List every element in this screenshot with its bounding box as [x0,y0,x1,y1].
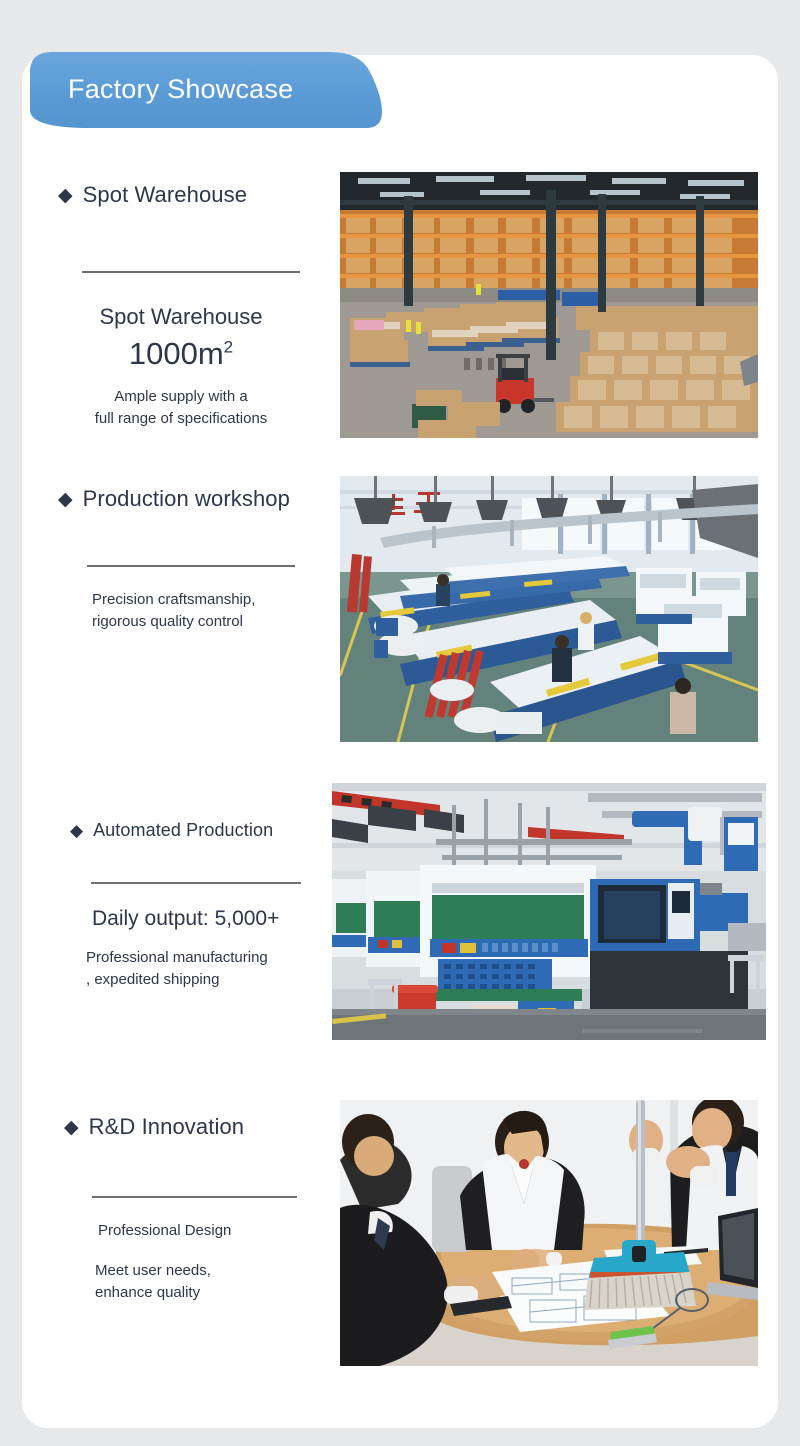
section-heading-spot-warehouse: ◆ Spot Warehouse [58,182,308,208]
banner: Factory Showcase [30,50,390,136]
section-heading-rd-innovation: ◆ R&D Innovation [64,1114,324,1140]
divider [82,271,300,273]
description-line-1: Professional manufacturing [86,947,330,969]
description-line-1: Ample supply with a [58,386,304,408]
section-spot-warehouse: ◆ Spot Warehouse Spot Warehouse 1000m2 A… [58,182,308,430]
section-rd-innovation: ◆ R&D Innovation Professional Design Mee… [64,1114,324,1303]
divider [87,565,295,567]
description-line-1: Precision craftsmanship, [92,589,318,611]
section-metric-line: Daily output: 5,000+ [92,906,330,933]
section-title-line: Spot Warehouse [58,303,304,331]
rd-innovation-photo-graphic [340,1100,758,1366]
section-heading-label: Spot Warehouse [83,182,247,208]
spot-warehouse-photo [340,172,758,438]
automated-production-photo [332,783,766,1040]
banner-title: Factory Showcase [68,50,293,128]
metric-value: 1000m [129,336,224,371]
divider [92,1196,297,1198]
section-description: Professional manufacturing , expedited s… [86,947,330,991]
section-production-workshop: ◆ Production workshop Precision craftsma… [58,486,318,633]
section-description: Ample supply with a full range of specif… [58,386,304,430]
spot-warehouse-photo-graphic [340,172,758,438]
section-heading-label: Automated Production [93,820,273,841]
description-line-1: Meet user needs, [95,1260,324,1282]
description-line-2: rigorous quality control [92,611,318,633]
section-heading-automated-production: ◆ Automated Production [70,820,330,841]
diamond-icon: ◆ [64,1118,79,1137]
section-metric: 1000m2 [58,335,304,372]
diamond-icon: ◆ [58,186,73,205]
section-heading-label: Production workshop [83,486,290,512]
automated-production-photo-graphic [332,783,766,1040]
production-workshop-photo-graphic [340,476,758,742]
metric-superscript: 2 [224,338,233,357]
section-description: Meet user needs, enhance quality [95,1260,324,1304]
section-automated-production: ◆ Automated Production Daily output: 5,0… [70,820,330,990]
description-line-2: full range of specifications [58,408,304,430]
divider [91,882,301,884]
section-description: Precision craftsmanship, rigorous qualit… [92,589,318,633]
section-heading-production-workshop: ◆ Production workshop [58,486,318,512]
diamond-icon: ◆ [58,490,73,509]
description-line-2: , expedited shipping [86,969,330,991]
description-line-2: enhance quality [95,1282,324,1304]
section-subtitle: Professional Design [98,1220,324,1242]
diamond-icon: ◆ [70,822,83,839]
rd-innovation-photo [340,1100,758,1366]
section-heading-label: R&D Innovation [89,1114,245,1140]
production-workshop-photo [340,476,758,742]
